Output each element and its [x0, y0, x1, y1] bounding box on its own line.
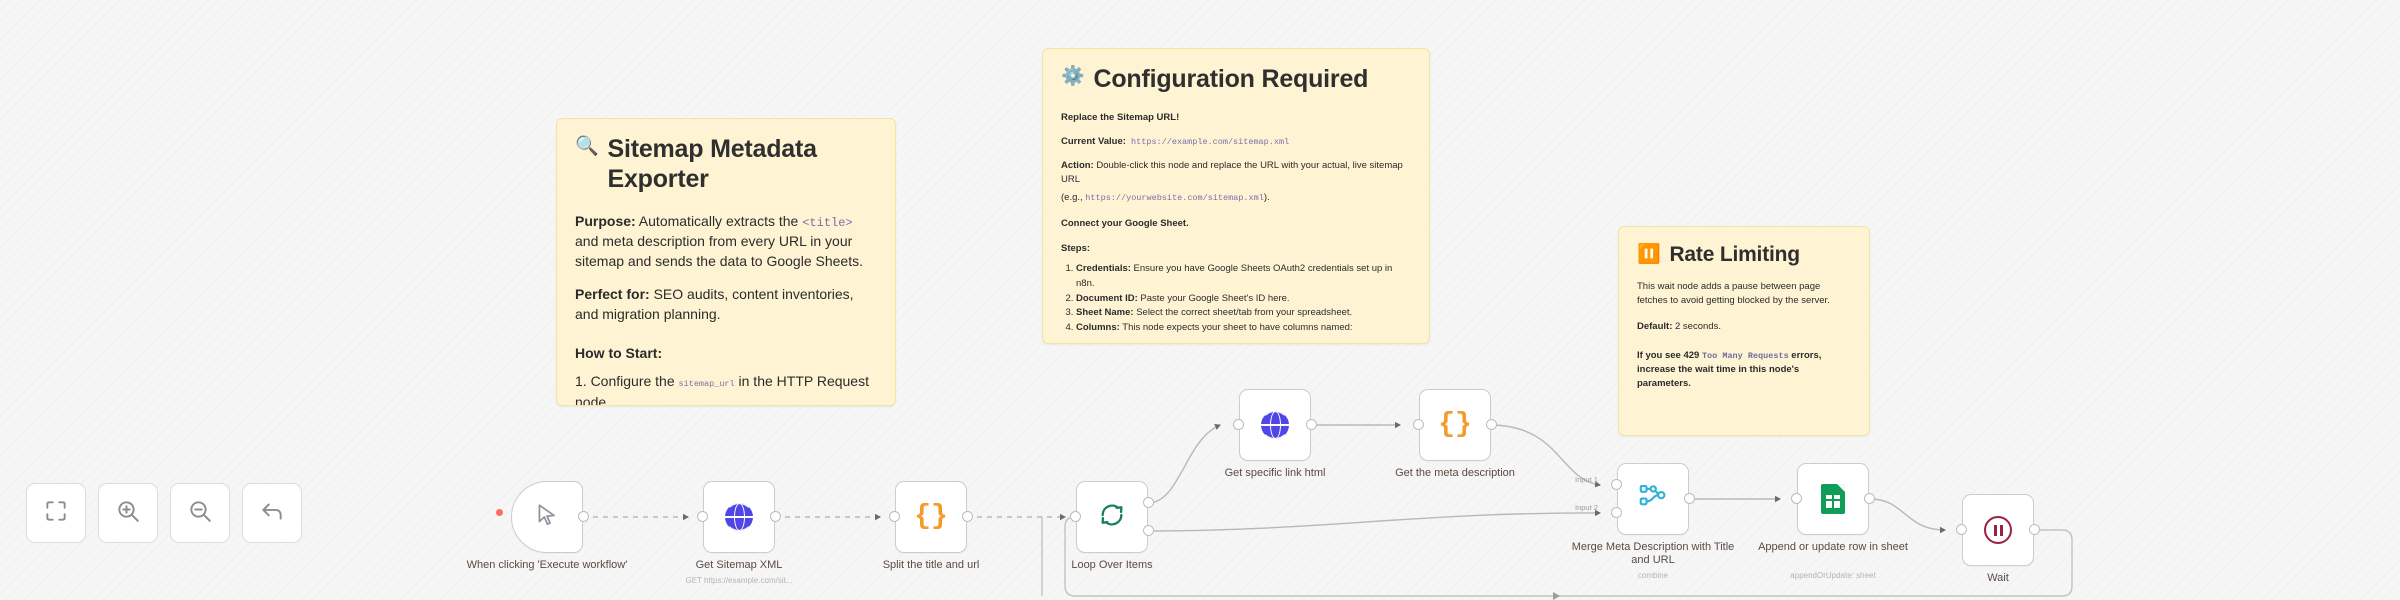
input-port[interactable]: [1070, 511, 1081, 522]
sticky-config-action: Action: Double-click this node and repla…: [1061, 159, 1411, 188]
input-port[interactable]: [889, 511, 900, 522]
node-caption: Get Sitemap XML: [657, 559, 821, 572]
node-append-or-update-row[interactable]: Append or update row in sheet appendOrUp…: [1797, 463, 1869, 535]
list-item: URL: [1083, 343, 1411, 344]
zoom-out-button[interactable]: [170, 483, 230, 543]
undo-arrow-icon: [259, 498, 285, 529]
pause-badge-icon: ⏸️: [1637, 243, 1660, 268]
input-port[interactable]: [697, 511, 708, 522]
sticky-config-step-list: Credentials: Ensure you have Google Shee…: [1061, 262, 1411, 336]
node-caption: Split the title and url: [849, 559, 1013, 572]
sticky-rate-default: Default: 2 seconds.: [1637, 320, 1851, 334]
input-port-1[interactable]: [1611, 479, 1622, 490]
node-loop-over-items[interactable]: Loop Over Items: [1076, 481, 1148, 553]
trigger-indicator-dot: [496, 509, 503, 516]
node-caption: Wait: [1916, 572, 2080, 585]
sticky-config-current-value: Current Value: https://example.com/sitem…: [1061, 135, 1411, 149]
output-port[interactable]: [2029, 524, 2040, 535]
node-caption: Loop Over Items: [1030, 559, 1194, 572]
sticky-overview-perfect: Perfect for: SEO audits, content invento…: [575, 285, 877, 325]
globe-icon: [1261, 411, 1289, 439]
node-caption: When clicking 'Execute workflow': [465, 559, 629, 572]
output-port[interactable]: [1684, 493, 1695, 504]
output-port[interactable]: [578, 511, 589, 522]
sticky-config-example: (e.g., https://yourwebsite.com/sitemap.x…: [1061, 191, 1411, 205]
pause-circle-icon: [1984, 516, 2012, 544]
node-subtitle: combine: [1559, 571, 1747, 581]
node-body[interactable]: [1239, 389, 1311, 461]
sticky-overview-title: 🔍 Sitemap Metadata Exporter: [575, 135, 877, 194]
node-caption: Get the meta description: [1373, 467, 1537, 480]
output-port[interactable]: [1864, 493, 1875, 504]
sticky-config-column-list: URL Title meta description: [1061, 343, 1411, 344]
sticky-overview-howto-item: 1. Configure the sitemap_url in the HTTP…: [575, 371, 877, 406]
list-item: Sheet Name: Select the correct sheet/tab…: [1076, 306, 1411, 321]
output-port[interactable]: [770, 511, 781, 522]
node-body[interactable]: [511, 481, 583, 553]
input-port[interactable]: [1791, 493, 1802, 504]
node-body[interactable]: {}: [1419, 389, 1491, 461]
sticky-note-overview[interactable]: 🔍 Sitemap Metadata Exporter Purpose: Aut…: [556, 118, 896, 406]
output-port[interactable]: [962, 511, 973, 522]
merge-icon: [1638, 482, 1668, 517]
sticky-note-rate-limiting[interactable]: ⏸️ Rate Limiting This wait node adds a p…: [1618, 226, 1870, 436]
sticky-rate-warning: If you see 429 Too Many Requests errors,…: [1637, 349, 1851, 392]
node-body[interactable]: [703, 481, 775, 553]
input-port-2-label: Input 2: [1575, 503, 1598, 512]
input-port[interactable]: [1956, 524, 1967, 535]
google-sheets-icon: [1821, 484, 1845, 514]
zoom-out-icon: [187, 498, 213, 529]
node-body[interactable]: [1797, 463, 1869, 535]
node-caption: Get specific link html: [1193, 467, 1357, 480]
sticky-note-configuration[interactable]: ⚙️ Configuration Required Replace the Si…: [1042, 48, 1430, 344]
sticky-rate-title: ⏸️ Rate Limiting: [1637, 243, 1851, 268]
list-item: Credentials: Ensure you have Google Shee…: [1076, 262, 1411, 291]
globe-icon: [725, 503, 753, 531]
output-port[interactable]: [1306, 419, 1317, 430]
input-port[interactable]: [1413, 419, 1424, 430]
node-get-meta-description[interactable]: {} Get the meta description: [1419, 389, 1491, 461]
node-get-specific-link-html[interactable]: Get specific link html: [1239, 389, 1311, 461]
list-item: Document ID: Paste your Google Sheet's I…: [1076, 292, 1411, 307]
sticky-config-title: ⚙️ Configuration Required: [1061, 65, 1411, 95]
node-body[interactable]: {}: [895, 481, 967, 553]
sticky-config-steps-label: Steps:: [1061, 242, 1411, 256]
sticky-config-section-2: Connect your Google Sheet.: [1061, 217, 1411, 231]
node-wait[interactable]: Wait: [1962, 494, 2034, 566]
output-port-done[interactable]: [1143, 497, 1154, 508]
node-merge-meta-description[interactable]: Input 1 Input 2 Merge Meta Description w…: [1617, 463, 1689, 535]
zoom-in-button[interactable]: [98, 483, 158, 543]
node-subtitle: GET https://example.com/sit...: [645, 576, 833, 586]
code-braces-icon: {}: [1438, 411, 1472, 439]
input-port-1-label: Input 1: [1575, 475, 1598, 484]
node-get-sitemap-xml[interactable]: Get Sitemap XML GET https://example.com/…: [703, 481, 775, 553]
node-split-title-url[interactable]: {} Split the title and url: [895, 481, 967, 553]
magnifying-glass-icon: 🔍: [575, 135, 598, 160]
mouse-pointer-icon: [534, 502, 560, 533]
zoom-in-icon: [115, 498, 141, 529]
node-caption: Append or update row in sheet: [1751, 541, 1915, 554]
input-port-2[interactable]: [1611, 507, 1622, 518]
list-item: Columns: This node expects your sheet to…: [1076, 321, 1411, 336]
sticky-rate-body: This wait node adds a pause between page…: [1637, 280, 1851, 309]
node-body[interactable]: [1962, 494, 2034, 566]
fit-screen-icon: [43, 498, 69, 529]
code-braces-icon: {}: [914, 503, 948, 531]
loop-icon: [1098, 501, 1126, 534]
output-port-loop[interactable]: [1143, 525, 1154, 536]
sticky-overview-purpose: Purpose: Automatically extracts the <tit…: [575, 212, 877, 272]
sticky-config-section-1: Replace the Sitemap URL!: [1061, 111, 1411, 125]
output-port[interactable]: [1486, 419, 1497, 430]
workflow-canvas[interactable]: 🔍 Sitemap Metadata Exporter Purpose: Aut…: [0, 0, 2400, 600]
node-manual-trigger[interactable]: When clicking 'Execute workflow': [511, 481, 583, 553]
node-body[interactable]: [1617, 463, 1689, 535]
gear-icon: ⚙️: [1061, 65, 1084, 90]
node-caption: Merge Meta Description with Title and UR…: [1571, 541, 1735, 568]
node-subtitle: appendOrUpdate: sheet: [1739, 571, 1927, 581]
input-port[interactable]: [1233, 419, 1244, 430]
node-body[interactable]: [1076, 481, 1148, 553]
sticky-overview-howto-label: How to Start:: [575, 343, 877, 364]
reset-zoom-button[interactable]: [242, 483, 302, 543]
zoom-to-fit-button[interactable]: [26, 483, 86, 543]
canvas-zoom-toolbar[interactable]: [26, 483, 302, 543]
